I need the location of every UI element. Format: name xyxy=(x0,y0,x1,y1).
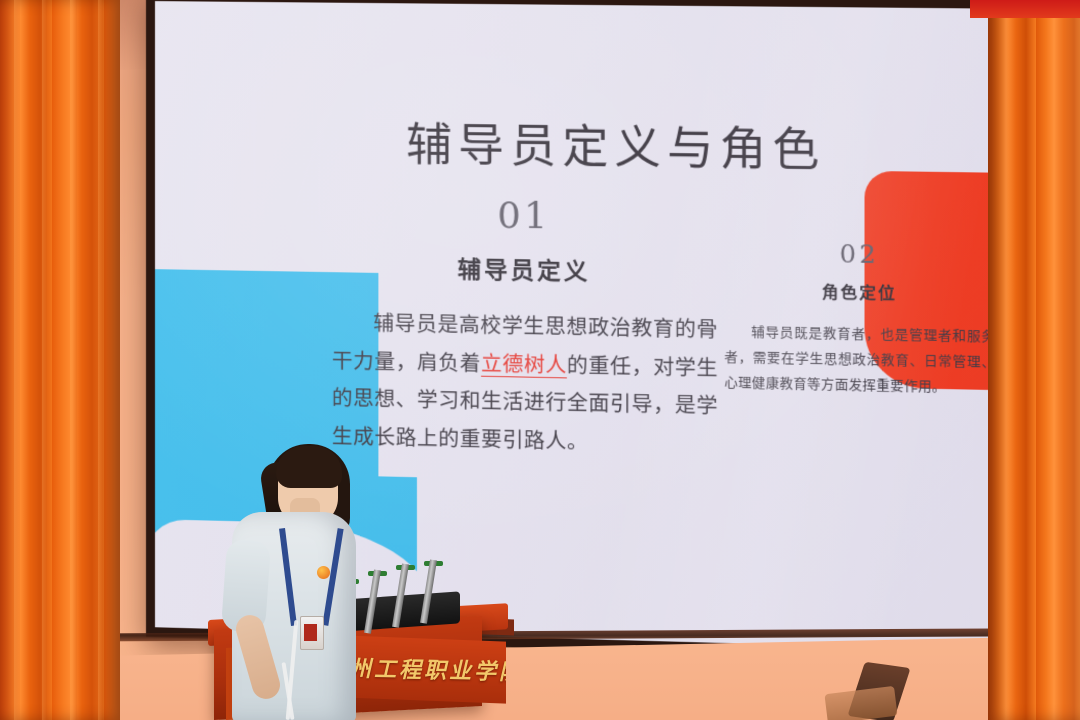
microphone-stem-2 xyxy=(364,569,381,633)
presenter-hair-front xyxy=(276,446,342,488)
column-one-body: 辅导员是高校学生思想政治教育的骨干力量，肩负着立德树人的重任，对学生的思想、学习… xyxy=(332,304,718,465)
presenter-lapel-pin xyxy=(317,566,330,579)
slide-title: 辅导员定义与角色 xyxy=(155,105,1024,182)
column-two-heading: 角色定位 xyxy=(724,276,995,305)
curtain-valance xyxy=(970,0,1080,18)
microphone-cluster xyxy=(340,530,460,630)
curtain-fold-3 xyxy=(70,0,77,720)
slide-column-one: 01 辅导员定义 辅导员是高校学生思想政治教育的骨干力量，肩负着立德树人的重任，… xyxy=(332,194,718,465)
curtain-fold-4 xyxy=(98,0,103,720)
microphone-stem-4 xyxy=(420,559,437,623)
column-one-heading: 辅导员定义 xyxy=(332,248,718,289)
curtain-fold-1 xyxy=(14,0,20,720)
lecture-hall-photo: 辅导员定义与角色 01 辅导员定义 辅导员是高校学生思想政治教育的骨干力量，肩负… xyxy=(0,0,1080,720)
curtain-right xyxy=(988,0,1080,720)
column-one-body-highlight: 立德树人 xyxy=(481,351,567,378)
curtain-left xyxy=(0,0,120,720)
curtain-fold-2 xyxy=(42,0,47,720)
column-two-body: 辅导员既是教育者，也是管理者和服务者，需要在学生思想政治教育、日常管理、心理健康… xyxy=(724,319,995,402)
column-one-number: 01 xyxy=(332,194,718,240)
slide-column-two: 02 角色定位 辅导员既是教育者，也是管理者和服务者，需要在学生思想政治教育、日… xyxy=(724,238,995,402)
presenter-id-badge-photo xyxy=(304,624,317,641)
microphone-stem-3 xyxy=(392,563,409,627)
column-two-number: 02 xyxy=(724,238,995,270)
